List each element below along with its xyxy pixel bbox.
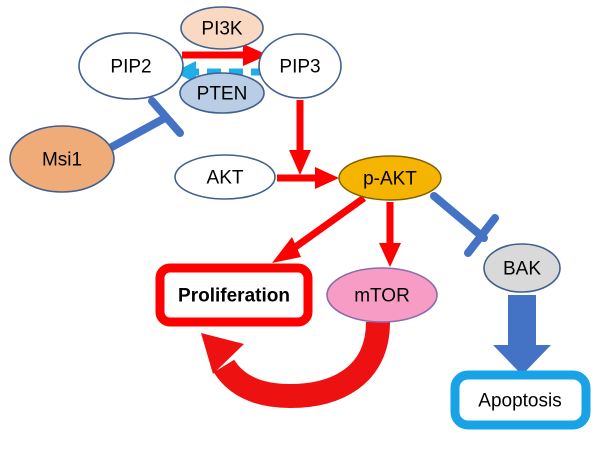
pathway-diagram: PIP2 PIP3 PI3K PTEN Msi1 AKT xyxy=(0,0,600,450)
node-p-akt[interactable]: p-AKT xyxy=(339,156,441,200)
node-proliferation[interactable]: Proliferation xyxy=(160,268,308,322)
pi3k-label: PI3K xyxy=(201,19,243,40)
node-pten[interactable]: PTEN xyxy=(180,73,264,113)
node-bak[interactable]: BAK xyxy=(484,244,560,292)
edge-msi1-inhibits-pten xyxy=(110,101,180,148)
pakt-to-prolif-arrowhead xyxy=(272,237,301,263)
edge-pip3-to-pakt xyxy=(289,100,311,175)
pakt-to-prolif-shaft xyxy=(294,198,364,248)
msi1-inhibit-shaft xyxy=(110,118,165,148)
node-apoptosis[interactable]: Apoptosis xyxy=(455,375,586,425)
edge-pakt-to-proliferation xyxy=(272,198,364,263)
p-akt-label: p-AKT xyxy=(363,169,417,190)
edge-akt-to-pakt xyxy=(277,167,339,189)
edge-mtor-to-proliferation xyxy=(201,322,378,396)
node-pi3k[interactable]: PI3K xyxy=(181,7,263,49)
edge-pakt-inhibits-bak xyxy=(434,196,495,253)
akt-to-pakt-arrowhead xyxy=(315,167,339,189)
msi1-label: Msi1 xyxy=(42,150,82,171)
edge-pakt-to-mtor xyxy=(379,202,401,267)
edge-bak-to-apoptosis xyxy=(493,295,551,375)
node-akt[interactable]: AKT xyxy=(175,155,275,199)
bak-to-apoptosis-block-arrow xyxy=(493,295,551,375)
pakt-inhibit-shaft xyxy=(434,196,484,238)
mtor-label: mTOR xyxy=(354,286,410,307)
node-msi1[interactable]: Msi1 xyxy=(10,126,114,192)
pip3-to-pakt-arrowhead xyxy=(289,150,311,175)
node-mtor[interactable]: mTOR xyxy=(327,268,437,322)
pten-label: PTEN xyxy=(197,84,248,105)
pathway-canvas: PIP2 PIP3 PI3K PTEN Msi1 AKT xyxy=(0,0,600,450)
mtor-feedback-arc xyxy=(224,322,378,396)
node-pip3[interactable]: PIP3 xyxy=(259,34,341,98)
apoptosis-label: Apoptosis xyxy=(478,391,561,412)
akt-label: AKT xyxy=(207,168,244,189)
pip2-label: PIP2 xyxy=(110,57,151,78)
node-pip2[interactable]: PIP2 xyxy=(79,33,183,99)
msi1-inhibit-bar xyxy=(152,101,180,133)
bak-label: BAK xyxy=(503,259,541,280)
pakt-to-mtor-arrowhead xyxy=(379,243,401,267)
proliferation-label: Proliferation xyxy=(178,286,290,307)
pip3-label: PIP3 xyxy=(279,57,320,78)
